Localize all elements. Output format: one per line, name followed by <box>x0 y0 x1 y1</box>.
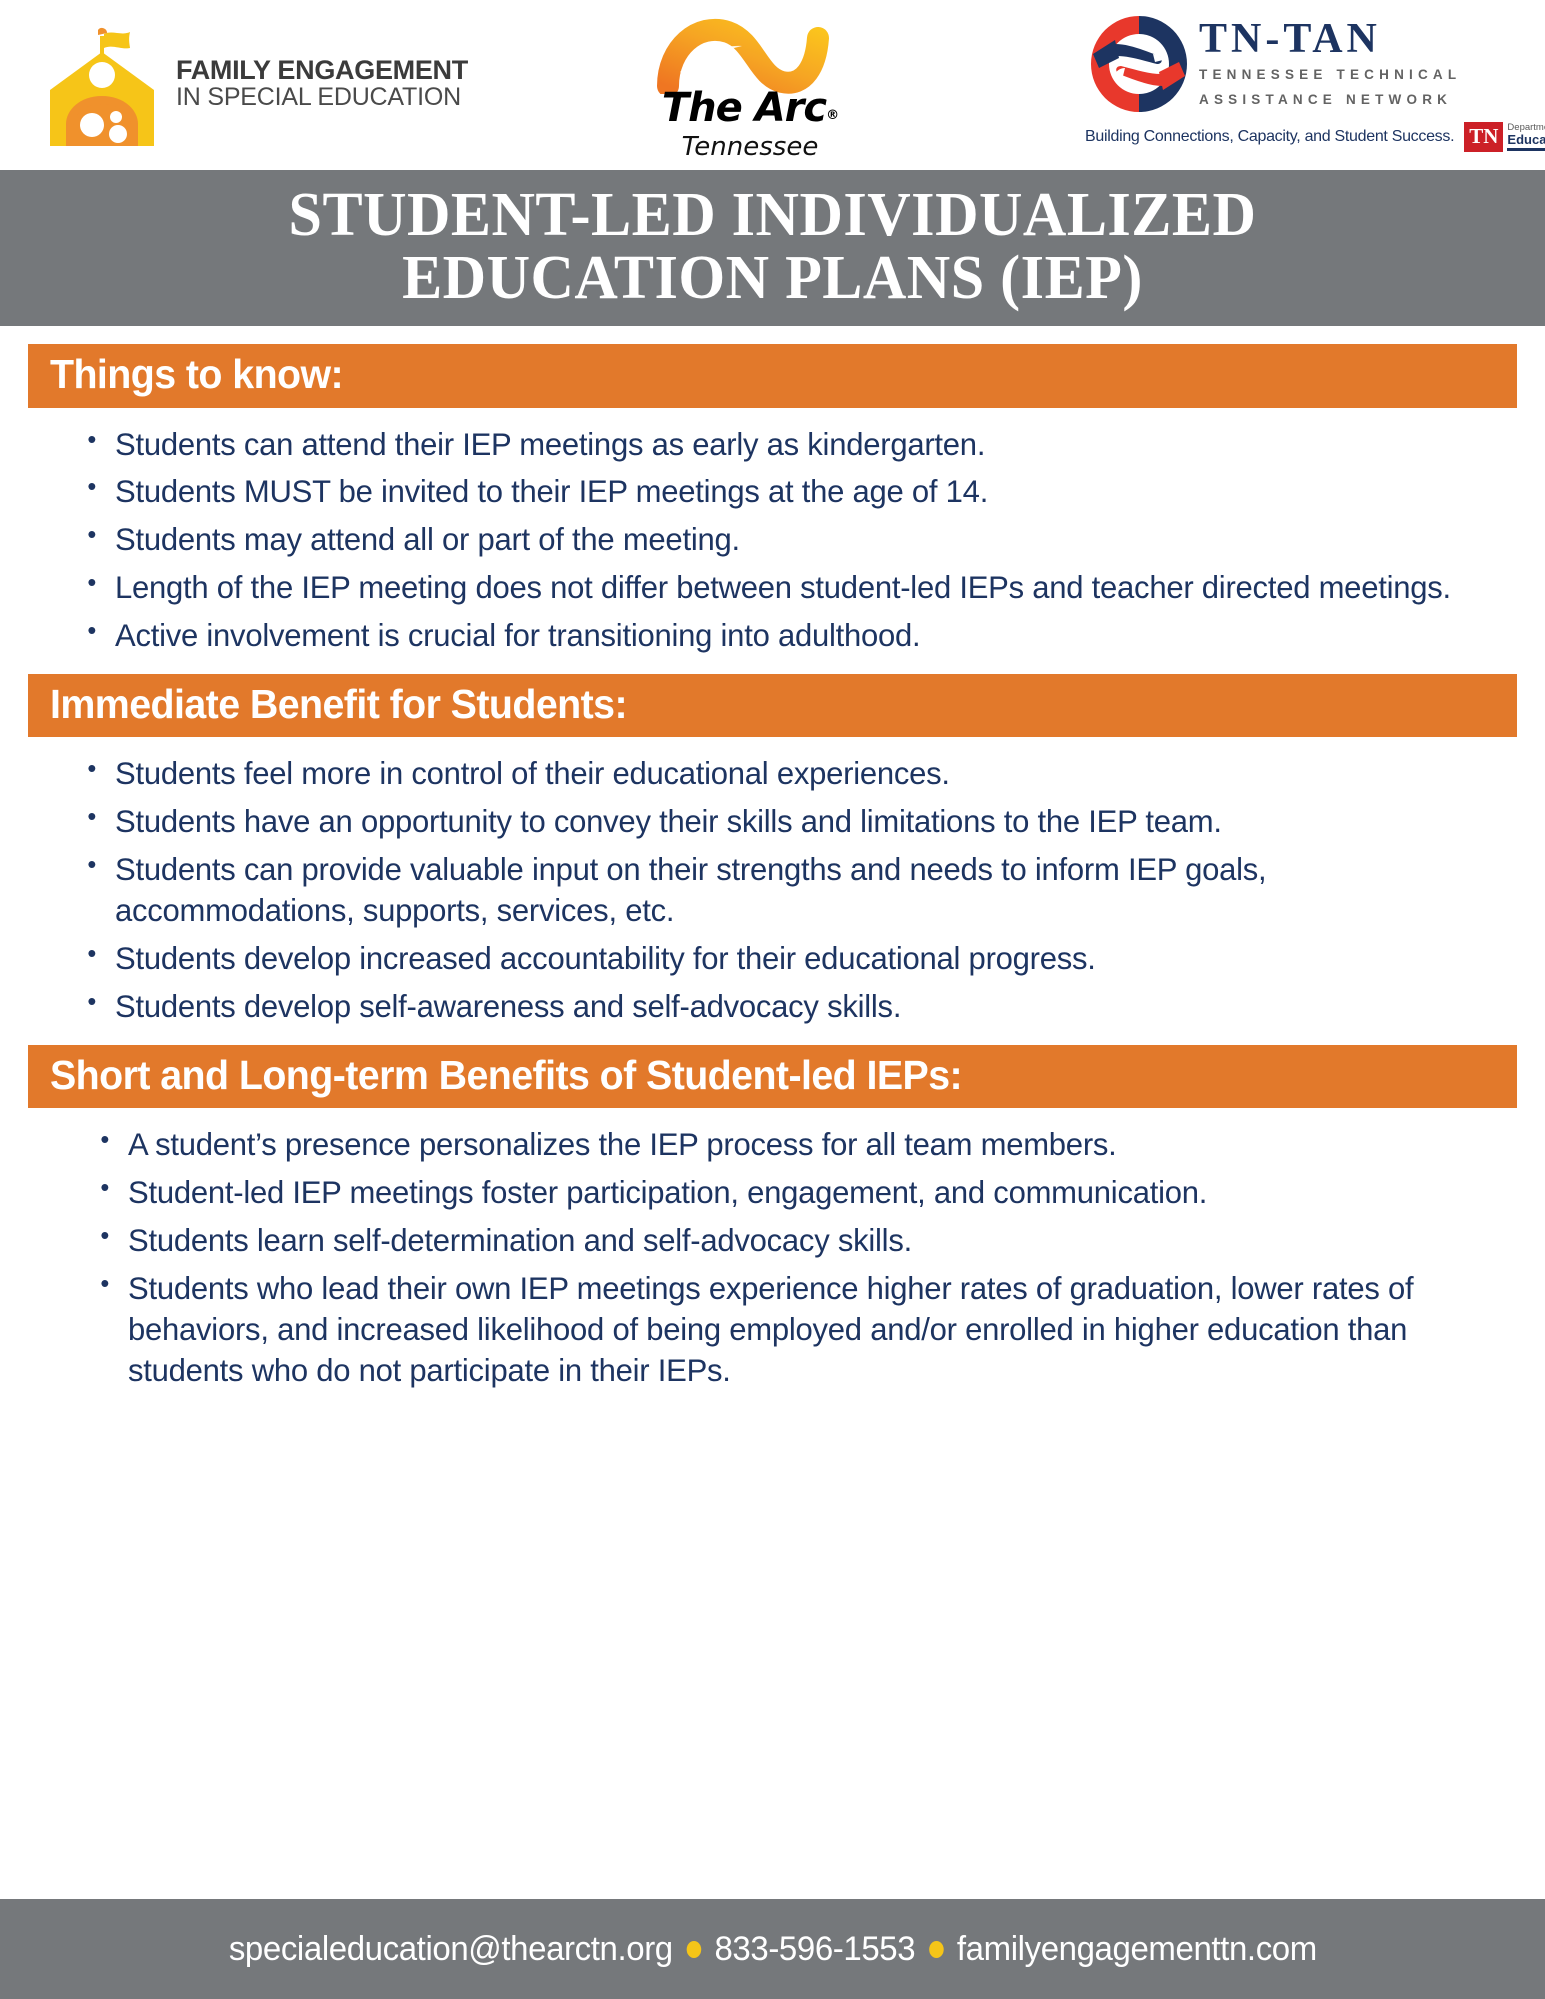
tn-department-of-education-logo: TN Department of Education <box>1464 122 1545 152</box>
arc-name-text: The Arc <box>662 85 826 131</box>
list-item: Length of the IEP meeting does not diffe… <box>115 567 1464 608</box>
the-arc-logo: The Arc® Tennessee <box>620 14 880 162</box>
tn-tan-tagline-row: Building Connections, Capacity, and Stud… <box>1085 122 1545 152</box>
list-item: Students who lead their own IEP meetings… <box>128 1268 1465 1391</box>
list-item: Active involvement is crucial for transi… <box>115 615 1464 656</box>
footer-website[interactable]: familyengagementtn.com <box>957 1930 1317 1969</box>
section-heading-label: Things to know: <box>50 353 343 396</box>
family-engagement-logo: FAMILY ENGAGEMENT IN SPECIAL EDUCATION <box>42 18 468 148</box>
family-engagement-wordmark: FAMILY ENGAGEMENT IN SPECIAL EDUCATION <box>176 56 468 111</box>
tn-tan-subtitle-line1: TENNESSEE TECHNICAL <box>1199 65 1461 85</box>
list-item: Students learn self-determination and se… <box>128 1220 1465 1261</box>
page-title: STUDENT-LED INDIVIDUALIZED EDUCATION PLA… <box>23 184 1522 310</box>
tn-tan-tagline: Building Connections, Capacity, and Stud… <box>1085 128 1454 146</box>
list-item: Students can provide valuable input on t… <box>115 849 1464 931</box>
section-header-short-long-term-benefits: Short and Long-term Benefits of Student-… <box>28 1045 1517 1108</box>
arc-registered-mark: ® <box>826 108 838 123</box>
list-item: Students may attend all or part of the m… <box>115 519 1464 560</box>
tn-doe-underline <box>1507 148 1545 151</box>
list-item: Student-led IEP meetings foster particip… <box>128 1172 1465 1213</box>
bullet-list-short-long-term-benefits: A student’s presence personalizes the IE… <box>0 1124 1545 1391</box>
page-title-line2: EDUCATION PLANS (IEP) <box>402 244 1143 312</box>
arc-swoosh-icon <box>650 14 850 94</box>
arc-state-label: Tennessee <box>620 132 880 162</box>
logo-header: FAMILY ENGAGEMENT IN SPECIAL EDUCATION T… <box>0 0 1545 170</box>
list-item: Students have an opportunity to convey t… <box>115 801 1464 842</box>
contact-footer: specialeducation@thearctn.org 833-596-15… <box>0 1899 1545 1999</box>
fe-line2: IN SPECIAL EDUCATION <box>176 84 468 110</box>
bullet-list-immediate-benefit: Students feel more in control of their e… <box>0 753 1545 1027</box>
list-item: Students feel more in control of their e… <box>115 753 1464 794</box>
section-heading-label: Immediate Benefit for Students: <box>50 683 627 726</box>
list-item: Students develop increased accountabilit… <box>115 938 1464 979</box>
arc-wordmark: The Arc® <box>620 88 880 128</box>
footer-email[interactable]: specialeducation@thearctn.org <box>228 1930 672 1969</box>
section-things-to-know: Things to know: Students can attend thei… <box>0 344 1545 656</box>
bullet-list-things-to-know: Students can attend their IEP meetings a… <box>0 424 1545 657</box>
tn-tan-title: TN-TAN <box>1199 18 1461 60</box>
section-short-long-term-benefits: Short and Long-term Benefits of Student-… <box>0 1045 1545 1391</box>
clasping-hands-circle-icon <box>1085 10 1193 118</box>
tn-tan-logo: TN-TAN TENNESSEE TECHNICAL ASSISTANCE NE… <box>1085 10 1461 118</box>
tn-tan-subtitle-line2: ASSISTANCE NETWORK <box>1199 90 1461 110</box>
section-header-immediate-benefit: Immediate Benefit for Students: <box>28 674 1517 737</box>
footer-phone[interactable]: 833-596-1553 <box>714 1930 915 1969</box>
footer-contact-row: specialeducation@thearctn.org 833-596-15… <box>228 1930 1316 1969</box>
section-heading-label: Short and Long-term Benefits of Student-… <box>50 1054 962 1097</box>
schoolhouse-flag-icon <box>42 18 162 148</box>
tn-tan-wordmark: TN-TAN TENNESSEE TECHNICAL ASSISTANCE NE… <box>1199 10 1461 109</box>
list-item: A student’s presence personalizes the IE… <box>128 1124 1465 1165</box>
page-title-line1: STUDENT-LED INDIVIDUALIZED <box>289 181 1257 249</box>
list-item: Students MUST be invited to their IEP me… <box>115 471 1464 512</box>
tn-doe-wordmark: Department of Education <box>1507 123 1545 151</box>
title-banner: STUDENT-LED INDIVIDUALIZED EDUCATION PLA… <box>0 170 1545 326</box>
footer-separator-dot-icon <box>686 1941 701 1958</box>
tn-abbrev-badge: TN <box>1464 122 1503 152</box>
section-header-things-to-know: Things to know: <box>28 344 1517 407</box>
fe-line1: FAMILY ENGAGEMENT <box>176 56 468 84</box>
section-immediate-benefit: Immediate Benefit for Students: Students… <box>0 674 1545 1027</box>
list-item: Students can attend their IEP meetings a… <box>115 424 1464 465</box>
tn-doe-line2: Education <box>1507 133 1545 147</box>
list-item: Students develop self-awareness and self… <box>115 986 1464 1027</box>
footer-separator-dot-icon <box>928 1941 943 1958</box>
